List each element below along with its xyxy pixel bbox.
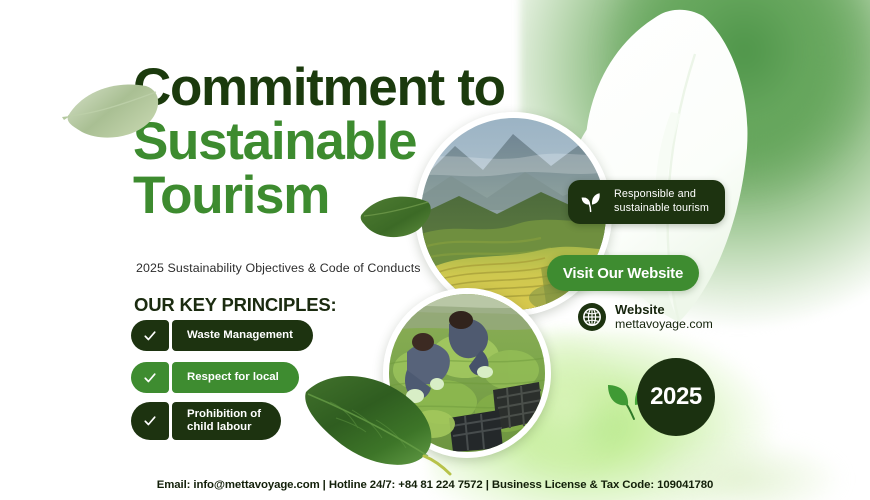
check-icon [131, 362, 169, 393]
badge-line-1: Responsible and [614, 188, 709, 202]
section-title-key-principles: OUR KEY PRINCIPLES: [134, 294, 336, 316]
check-icon [131, 402, 169, 440]
principle-label: Prohibition of child labour [172, 402, 281, 440]
principle-label: Waste Management [172, 320, 313, 351]
poster-canvas: Commitment to Sustainable Tourism 2025 S… [0, 0, 870, 500]
footer-contact-bar: Email: info@mettavoyage.com | Hotline 24… [0, 479, 870, 491]
principle-item-prohibition-child-labour[interactable]: Prohibition of child labour [131, 402, 281, 440]
status-badge-responsible-tourism: Responsible and sustainable tourism [568, 180, 725, 224]
headline-line-1: Commitment to [133, 62, 593, 114]
principle-label: Respect for local [172, 362, 299, 393]
sprout-leaf-icon [577, 188, 605, 216]
badge-line-2: sustainable tourism [614, 202, 709, 216]
principle-label-line-2: child labour [187, 421, 261, 434]
principle-label-line-1: Prohibition of [187, 408, 261, 421]
farmers-harvest-photo [383, 288, 551, 458]
website-text: Website mettavoyage.com [615, 302, 713, 332]
year-badge-2025: 2025 [637, 358, 715, 436]
principle-item-waste-management[interactable]: Waste Management [131, 320, 313, 351]
website-label: Website [615, 302, 713, 317]
check-icon [131, 320, 169, 351]
website-info[interactable]: Website mettavoyage.com [578, 302, 713, 332]
badge-text: Responsible and sustainable tourism [614, 188, 709, 215]
principle-item-respect-for-local[interactable]: Respect for local [131, 362, 299, 393]
subtitle: 2025 Sustainability Objectives & Code of… [136, 261, 421, 275]
website-url[interactable]: mettavoyage.com [615, 317, 713, 332]
visit-website-button[interactable]: Visit Our Website [547, 255, 699, 291]
globe-icon [578, 303, 606, 331]
